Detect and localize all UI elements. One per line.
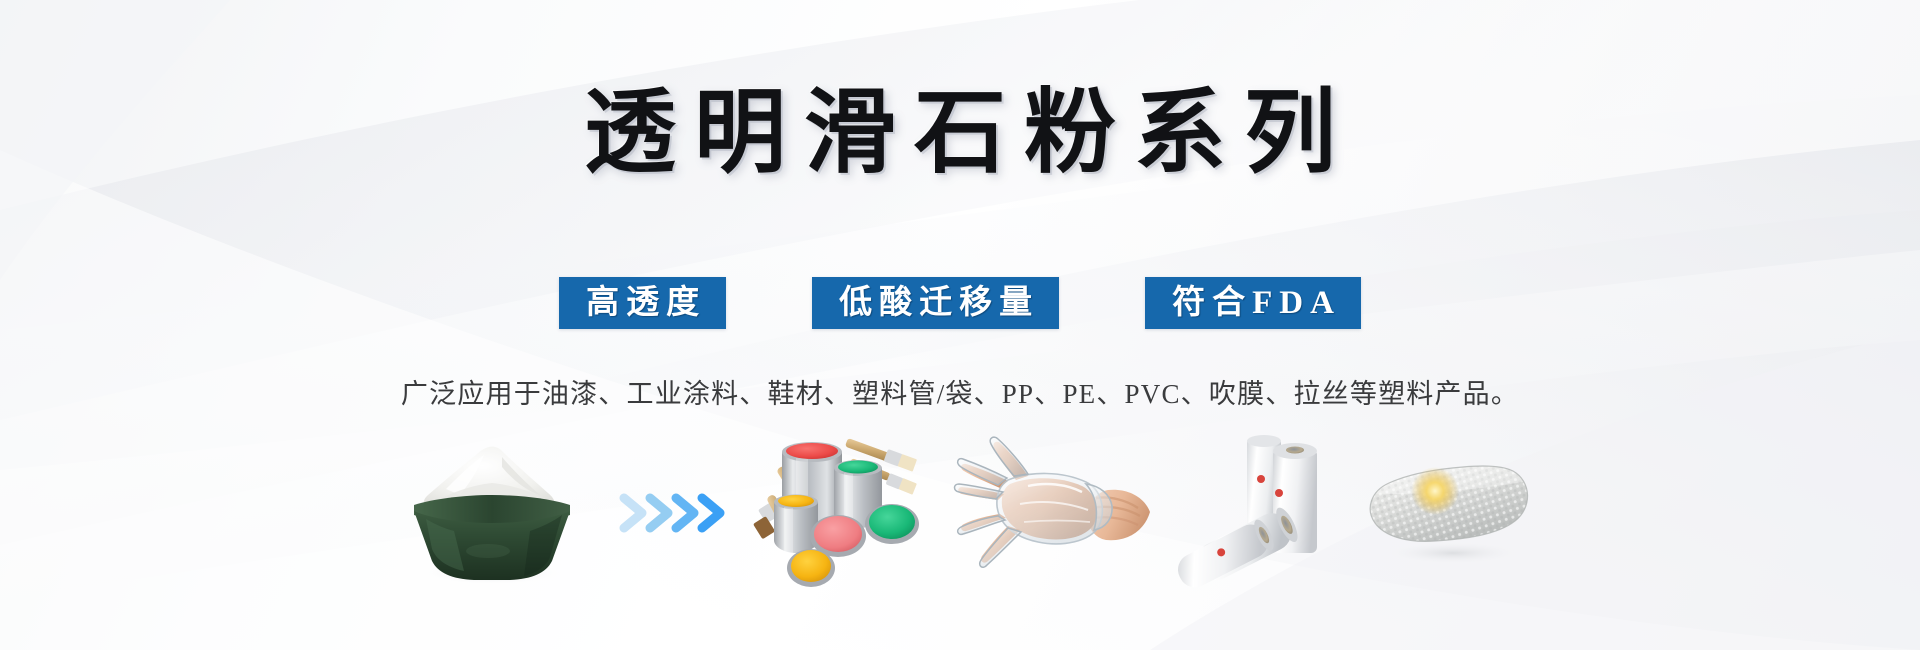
paint-can-yellow [774, 495, 818, 554]
product-application-strip [0, 420, 1920, 605]
badge-high-transparency: 高透度 [559, 277, 726, 329]
product-banner: 透明滑石粉系列 高透度 低酸迁移量 符合FDA 广泛应用于油漆、工业涂料、鞋材、… [0, 0, 1920, 650]
badge-fda-compliant: 符合FDA [1145, 277, 1361, 329]
shoe-sole-icon [1365, 453, 1540, 573]
paint-cans-icon [752, 430, 942, 595]
chevron-right-arrows-icon [616, 486, 736, 540]
application-description: 广泛应用于油漆、工业涂料、鞋材、塑料管/袋、PP、PE、PVC、吹膜、拉丝等塑料… [0, 372, 1920, 411]
process-arrows [611, 428, 741, 598]
feature-badge-row: 高透度 低酸迁移量 符合FDA [0, 277, 1920, 329]
sole-highlight-glow [1411, 467, 1459, 515]
paint-lid-yellow [787, 549, 835, 587]
plastic-film-rolls-icon [1169, 433, 1349, 593]
paint-lid-green [865, 504, 919, 544]
transparent-glove-overlay [955, 437, 1113, 567]
plastic-film-rolls-image [1164, 428, 1354, 598]
page-title: 透明滑石粉系列 [0, 82, 1920, 185]
talc-powder-bowl-icon [380, 433, 600, 593]
plastic-glove-hand-image [953, 428, 1158, 598]
plastic-glove-hand-icon [958, 438, 1153, 588]
film-roll [1172, 516, 1277, 592]
talc-powder-bowl-image [375, 428, 605, 598]
shoe-sole-image [1360, 428, 1545, 598]
badge-low-acid-migration: 低酸迁移量 [812, 277, 1059, 329]
paint-cans-image [747, 428, 947, 598]
